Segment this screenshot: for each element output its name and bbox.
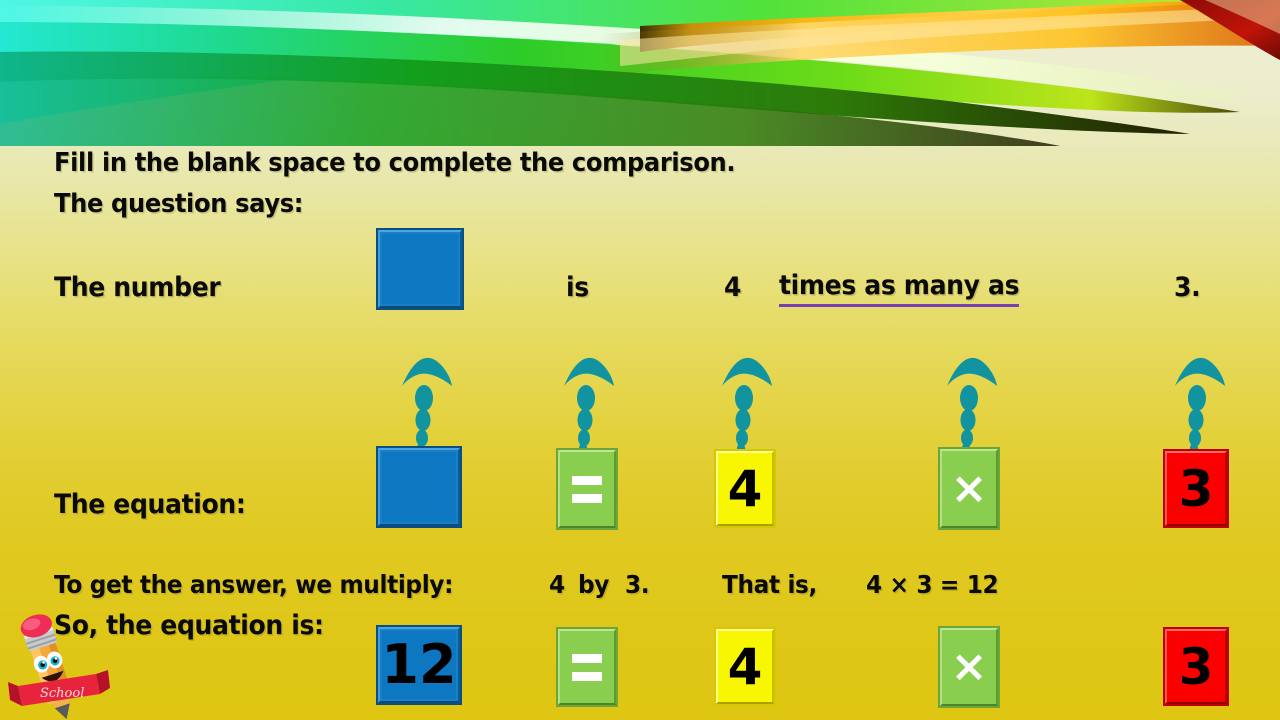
equals-icon xyxy=(572,654,602,681)
equation-product-box[interactable] xyxy=(376,446,462,528)
working-expression: 4 × 3 = 12 xyxy=(866,570,998,599)
question-label-the-number: The number xyxy=(54,272,220,303)
times-icon: × xyxy=(951,645,988,689)
equation-label: The equation: xyxy=(54,489,246,520)
equation-multiplier-value: 3 xyxy=(1179,464,1214,514)
answer-factor-box[interactable]: 4 xyxy=(714,627,776,706)
working-operand-a: 4 xyxy=(549,570,565,599)
question-phrase-underlined: times as many as xyxy=(779,270,1019,307)
answer-label: So, the equation is: xyxy=(54,610,324,641)
mascot-banner-text: School xyxy=(40,686,84,701)
instruction-line-2: The question says: xyxy=(54,189,303,219)
equation-multiply-box[interactable]: × xyxy=(938,447,1000,530)
equation-equals-box[interactable] xyxy=(556,448,618,530)
equation-factor-value: 4 xyxy=(728,464,763,514)
answer-multiplier-box[interactable]: 3 xyxy=(1163,627,1229,706)
answer-factor-value: 4 xyxy=(728,642,763,692)
arrow-to-product-box xyxy=(398,328,454,450)
working-operand-b: 3. xyxy=(625,570,649,599)
decorative-header-swoosh xyxy=(0,0,1280,150)
question-word-is: is xyxy=(566,272,589,303)
answer-multiplier-value: 3 xyxy=(1179,642,1214,692)
working-prefix: To get the answer, we multiply: xyxy=(54,570,453,599)
question-factor: 4 xyxy=(724,272,741,303)
working-that-is: That is, xyxy=(722,570,817,599)
arrow-to-multiplier-box xyxy=(1171,328,1227,450)
instruction-line-1: Fill in the blank space to complete the … xyxy=(54,148,735,178)
working-word-by: by xyxy=(578,570,609,599)
answer-equals-box[interactable] xyxy=(556,627,618,707)
times-icon: × xyxy=(951,467,988,511)
question-other-number: 3. xyxy=(1174,272,1200,303)
arrow-to-multiply-box xyxy=(943,328,999,450)
equation-factor-box[interactable]: 4 xyxy=(714,449,776,528)
slide-canvas: Fill in the blank space to complete the … xyxy=(0,0,1280,720)
answer-product-box[interactable]: 12 xyxy=(376,625,462,705)
arrow-to-factor-box xyxy=(718,328,774,450)
question-blank-box[interactable] xyxy=(376,228,464,310)
answer-product-value: 12 xyxy=(381,638,456,692)
equals-icon xyxy=(572,476,602,503)
arrow-to-equals-box xyxy=(560,328,616,450)
equation-multiplier-box[interactable]: 3 xyxy=(1163,449,1229,528)
answer-multiply-box[interactable]: × xyxy=(938,626,1000,708)
